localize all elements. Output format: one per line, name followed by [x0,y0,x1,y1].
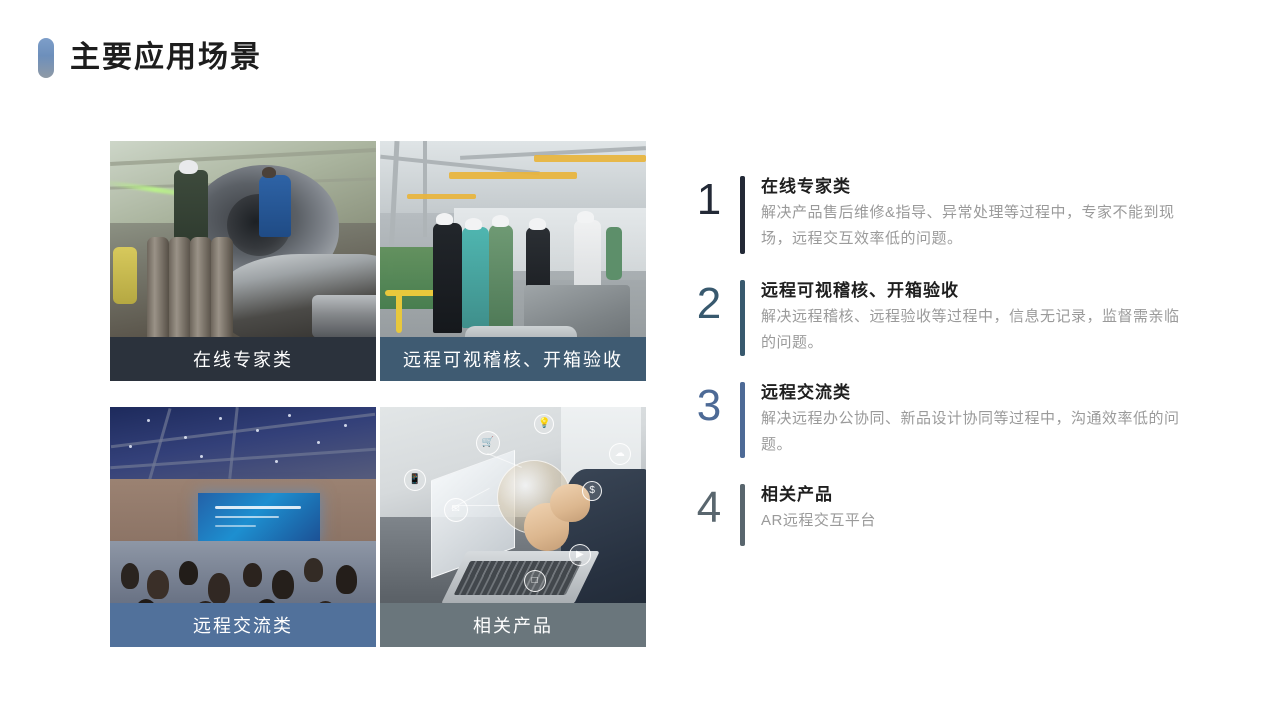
monitor-icon: □ [524,570,546,592]
page-header: 主要应用场景 [38,38,262,78]
card-caption-1: 在线专家类 [110,337,376,381]
list-item-title: 在线专家类 [761,174,1206,200]
list-item-accent-bar [740,484,745,546]
list-item-accent-bar [740,280,745,356]
list-item-number: 3 [686,378,732,434]
scenario-card-1[interactable]: 在线专家类 [110,141,376,381]
list-item-4[interactable]: 4 相关产品 AR远程交互平台 [686,480,1206,546]
list-item-accent-bar [740,382,745,458]
list-item-accent-bar [740,176,745,254]
cart-icon: 🛒 [476,431,500,455]
play-icon: ▶ [569,544,591,566]
scenario-list: 1 在线专家类 解决产品售后维修&指导、异常处理等过程中，专家不能到现场，远程交… [686,172,1206,568]
title-marker-icon [38,38,54,78]
card-caption-3: 远程交流类 [110,603,376,647]
lightbulb-icon: 💡 [534,414,554,434]
list-item-title: 相关产品 [761,482,1206,508]
list-item-description: 解决产品售后维修&指导、异常处理等过程中，专家不能到现场，远程交互效率低的问题。 [761,200,1191,252]
list-item-3[interactable]: 3 远程交流类 解决远程办公协同、新品设计协同等过程中，沟通效率低的问题。 [686,378,1206,458]
card-caption-2: 远程可视稽核、开箱验收 [380,337,646,381]
scenario-card-4[interactable]: 🛒 ☁ 📱 ✉ $ 💡 ▶ □ 相关产品 [380,407,646,647]
list-item-title: 远程可视稽核、开箱验收 [761,278,1206,304]
mail-icon: ✉ [444,498,468,522]
list-item-number: 4 [686,480,732,536]
list-item-description: AR远程交互平台 [761,508,1191,534]
card-caption-4: 相关产品 [380,603,646,647]
list-item-2[interactable]: 2 远程可视稽核、开箱验收 解决远程稽核、远程验收等过程中，信息无记录，监督需亲… [686,276,1206,356]
list-item-description: 解决远程稽核、远程验收等过程中，信息无记录，监督需亲临的问题。 [761,304,1191,356]
list-item-1[interactable]: 1 在线专家类 解决产品售后维修&指导、异常处理等过程中，专家不能到现场，远程交… [686,172,1206,254]
list-item-description: 解决远程办公协同、新品设计协同等过程中，沟通效率低的问题。 [761,406,1191,458]
cloud-icon: ☁ [609,443,631,465]
list-item-number: 2 [686,276,732,332]
scenario-card-2[interactable]: 远程可视稽核、开箱验收 [380,141,646,381]
list-item-title: 远程交流类 [761,380,1206,406]
page-title: 主要应用场景 [70,43,262,73]
list-item-number: 1 [686,172,732,228]
scenario-card-3[interactable]: 远程交流类 [110,407,376,647]
scenario-card-grid: 在线专家类 [110,141,646,647]
mobile-icon: 📱 [404,469,426,491]
